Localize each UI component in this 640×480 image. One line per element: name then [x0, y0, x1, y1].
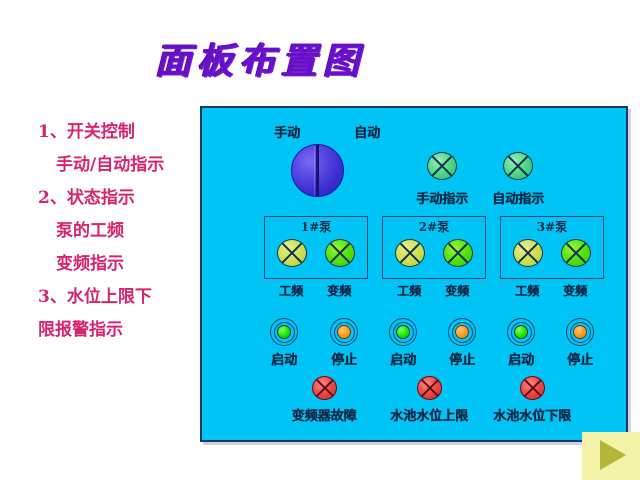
- note-item: 3、水位上限下: [38, 281, 203, 314]
- pump3-vfd-label: 变频: [563, 282, 587, 299]
- pump-name-label: 1#泵: [265, 218, 367, 235]
- pool-high-level-lamp: [417, 376, 442, 400]
- pump1-stop-label: 停止: [331, 349, 357, 368]
- pump2-vfd-label: 变频: [445, 282, 469, 299]
- pump2-line-freq-lamp: [395, 239, 425, 267]
- vfd-fault-lamp: [312, 376, 337, 400]
- pump2-vfd-lamp: [443, 239, 473, 267]
- pump1-line-freq-label: 工频: [279, 282, 303, 299]
- selector-auto-label: 自动: [354, 122, 380, 141]
- auto-indicator-lamp: [503, 152, 533, 180]
- note-item: 限报警指示: [38, 314, 203, 347]
- pump3-line-freq-lamp: [513, 239, 543, 267]
- pump3-vfd-lamp: [561, 239, 591, 267]
- note-item: 泵的工频: [38, 215, 203, 248]
- note-item: 变频指示: [38, 248, 203, 281]
- note-item: 2、状态指示: [38, 182, 203, 215]
- button-bezel: [274, 322, 295, 343]
- pump2-start-label: 启动: [390, 349, 416, 368]
- pump-name-label: 3#泵: [501, 218, 603, 235]
- button-core: [455, 325, 469, 339]
- button-core: [573, 325, 587, 339]
- selector-pointer-icon: [316, 145, 319, 196]
- selector-manual-label: 手动: [274, 122, 300, 141]
- page-title: 面板布置图: [140, 34, 380, 82]
- button-core: [277, 325, 291, 339]
- pool-high-level-label: 水池水位上限: [390, 405, 468, 424]
- notes-list: 1、开关控制 手动/自动指示 2、状态指示 泵的工频 变频指示 3、水位上限下 …: [38, 116, 203, 347]
- button-bezel: [452, 322, 473, 343]
- auto-indicator-label: 自动指示: [492, 188, 544, 207]
- pump3-start-label: 启动: [508, 349, 534, 368]
- pump3-stop-button[interactable]: [566, 318, 594, 346]
- play-triangle-icon: [600, 440, 626, 470]
- pump3-stop-label: 停止: [567, 349, 593, 368]
- note-item: 1、开关控制: [38, 116, 203, 149]
- pump1-vfd-lamp: [325, 239, 355, 267]
- button-core: [514, 325, 528, 339]
- button-bezel: [334, 322, 355, 343]
- pump-group-2: 2#泵: [382, 216, 486, 279]
- button-bezel: [393, 322, 414, 343]
- pump2-line-freq-label: 工频: [397, 282, 421, 299]
- pump1-stop-button[interactable]: [330, 318, 358, 346]
- note-item: 手动/自动指示: [38, 149, 203, 182]
- pool-low-level-lamp: [520, 376, 545, 400]
- manual-indicator-lamp: [427, 152, 457, 180]
- pump-group-3: 3#泵: [500, 216, 604, 279]
- pump2-start-button[interactable]: [389, 318, 417, 346]
- pool-low-level-label: 水池水位下限: [493, 405, 571, 424]
- pump-group-1: 1#泵: [264, 216, 368, 279]
- pump1-vfd-label: 变频: [327, 282, 351, 299]
- manual-indicator-label: 手动指示: [416, 188, 468, 207]
- pump1-start-label: 启动: [271, 349, 297, 368]
- pump2-stop-label: 停止: [449, 349, 475, 368]
- control-panel: 手动 自动 手动指示 自动指示 1#泵 工频 变频 2#泵 工频 变频 3#泵 …: [200, 106, 628, 442]
- pump1-start-button[interactable]: [270, 318, 298, 346]
- pump3-line-freq-label: 工频: [515, 282, 539, 299]
- mode-selector-knob[interactable]: [291, 144, 344, 197]
- button-bezel: [511, 322, 532, 343]
- pump-name-label: 2#泵: [383, 218, 485, 235]
- pump2-stop-button[interactable]: [448, 318, 476, 346]
- button-core: [337, 325, 351, 339]
- button-bezel: [570, 322, 591, 343]
- pump1-line-freq-lamp: [277, 239, 307, 267]
- play-button[interactable]: [582, 432, 640, 480]
- pump3-start-button[interactable]: [507, 318, 535, 346]
- button-core: [396, 325, 410, 339]
- vfd-fault-label: 变频器故障: [291, 405, 356, 424]
